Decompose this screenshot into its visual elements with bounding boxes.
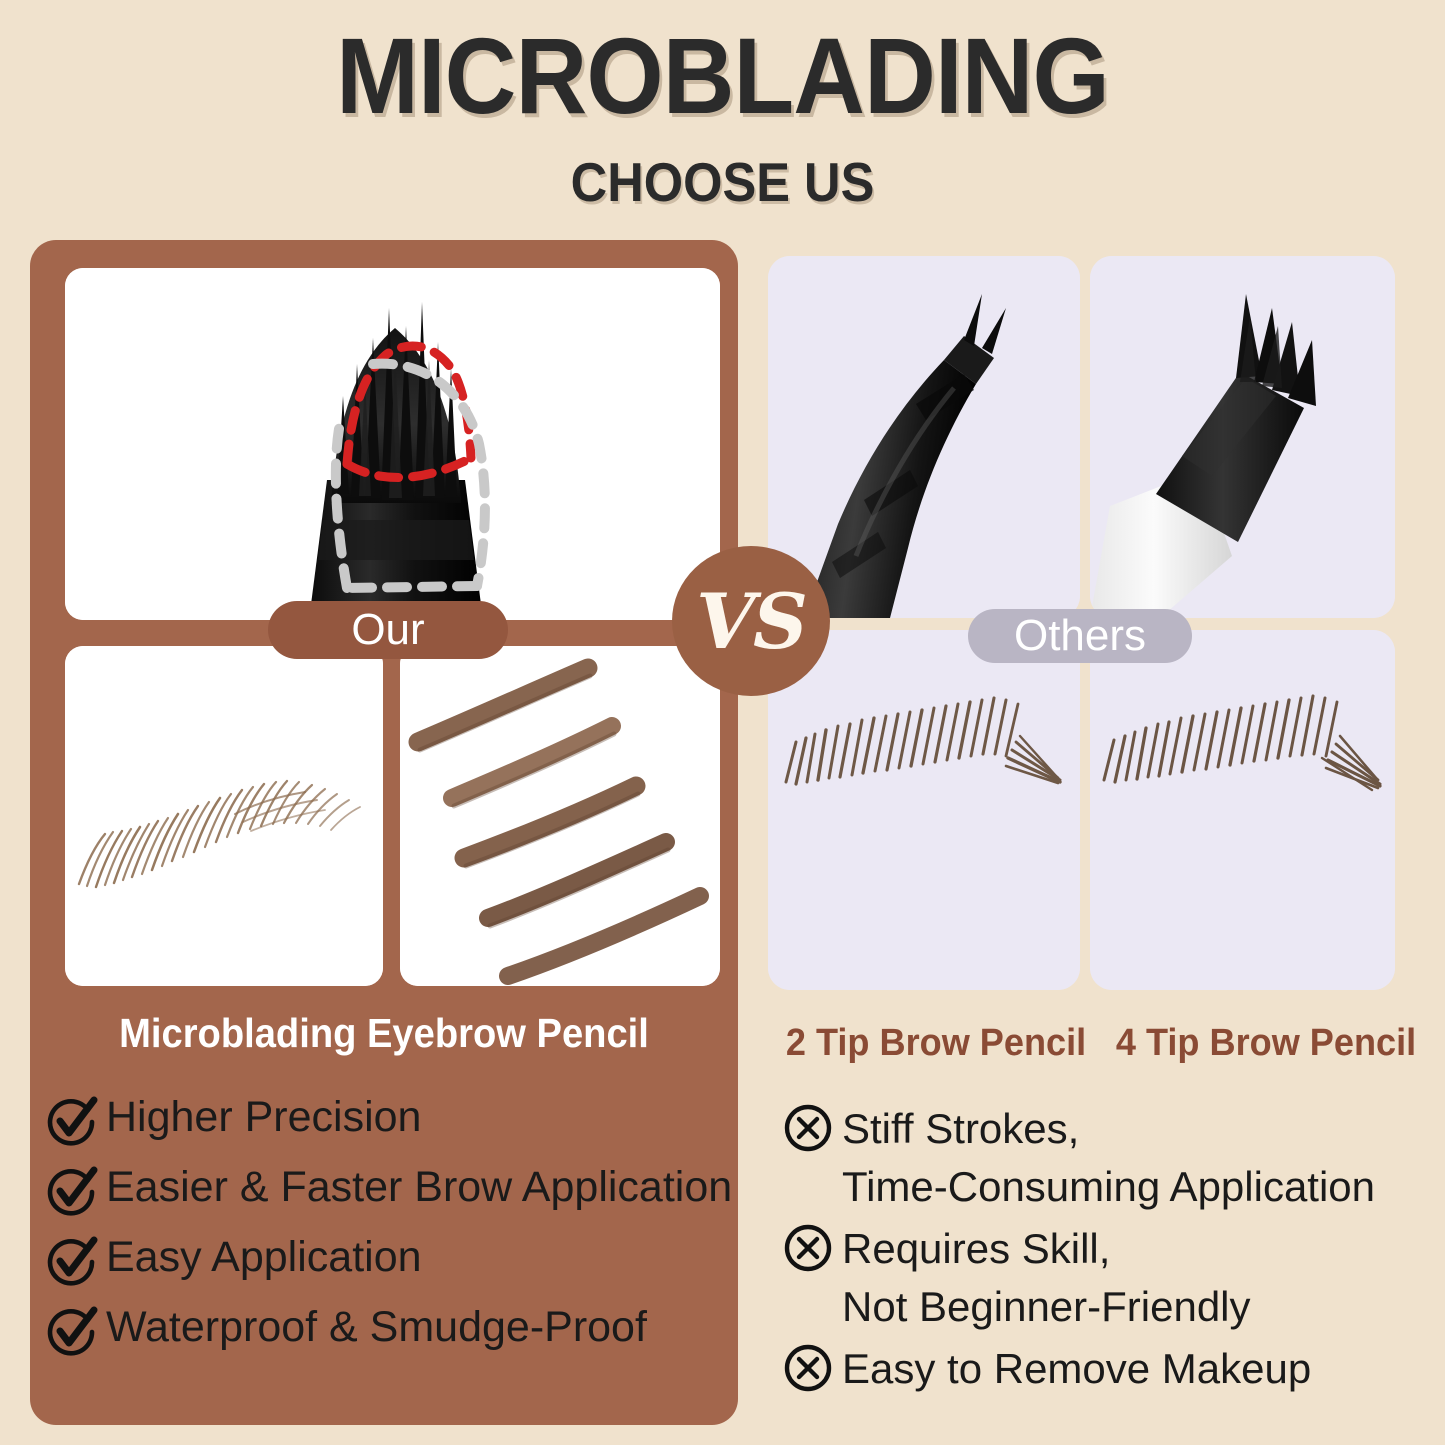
list-item: Easier & Faster Brow Application [44, 1162, 744, 1218]
others-column-label-2tip: 2 Tip Brow Pencil [786, 1022, 1086, 1065]
list-item-label: Requires Skill, Not Beginner-Friendly [842, 1220, 1251, 1336]
page-title: MICROBLADING [58, 22, 1387, 130]
others-column-label-4tip: 4 Tip Brow Pencil [1116, 1022, 1416, 1065]
x-circle-icon [780, 1100, 836, 1156]
check-circle-icon [44, 1302, 100, 1358]
check-circle-icon [44, 1092, 100, 1148]
list-item: Stiff Strokes, Time-Consuming Applicatio… [780, 1100, 1420, 1216]
vs-badge-label: VS [696, 577, 806, 666]
two-tip-brow-strokes-photo [768, 630, 1080, 990]
other-4tip-strokes-card [1090, 630, 1395, 990]
our-product-title: Microblading Eyebrow Pencil [55, 1013, 713, 1054]
list-item: Waterproof & Smudge-Proof [44, 1302, 744, 1358]
our-color-swatch-card [400, 646, 720, 986]
our-brush-tip-card [65, 268, 720, 620]
list-item-label: Waterproof & Smudge-Proof [106, 1302, 647, 1352]
list-item-label: Higher Precision [106, 1092, 421, 1142]
others-badge-label: Others [1014, 611, 1146, 661]
check-circle-icon [44, 1232, 100, 1288]
list-item-label: Easy to Remove Makeup [842, 1340, 1311, 1398]
others-badge: Others [968, 609, 1192, 663]
list-item: Easy Application [44, 1232, 744, 1288]
list-item: Easy to Remove Makeup [780, 1340, 1420, 1398]
list-item-label: Easier & Faster Brow Application [106, 1162, 732, 1212]
microblading-brush-tip-photo [65, 268, 720, 620]
two-tip-pen-photo [768, 256, 1080, 618]
others-drawback-list: Stiff Strokes, Time-Consuming Applicatio… [780, 1100, 1420, 1402]
our-feature-list: Higher Precision Easier & Faster Brow Ap… [44, 1092, 744, 1372]
other-4tip-pen-card [1090, 256, 1395, 618]
our-badge: Our [268, 601, 508, 659]
natural-brow-swatch-photo [65, 646, 383, 986]
header: MICROBLADING CHOOSE US [0, 0, 1445, 232]
our-badge-label: Our [351, 605, 424, 655]
vs-badge: VS [672, 546, 830, 696]
list-item-label: Easy Application [106, 1232, 422, 1282]
other-2tip-strokes-card [768, 630, 1080, 990]
our-brow-result-card [65, 646, 383, 986]
check-circle-icon [44, 1162, 100, 1218]
pencil-color-swatch-photo [400, 646, 720, 986]
list-item: Requires Skill, Not Beginner-Friendly [780, 1220, 1420, 1336]
other-2tip-pen-card [768, 256, 1080, 618]
four-tip-brow-strokes-photo [1090, 630, 1395, 990]
page-subtitle: CHOOSE US [58, 155, 1387, 210]
four-tip-pen-photo [1090, 256, 1395, 618]
list-item: Higher Precision [44, 1092, 744, 1148]
x-circle-icon [780, 1340, 836, 1396]
x-circle-icon [780, 1220, 836, 1276]
list-item-label: Stiff Strokes, Time-Consuming Applicatio… [842, 1100, 1375, 1216]
